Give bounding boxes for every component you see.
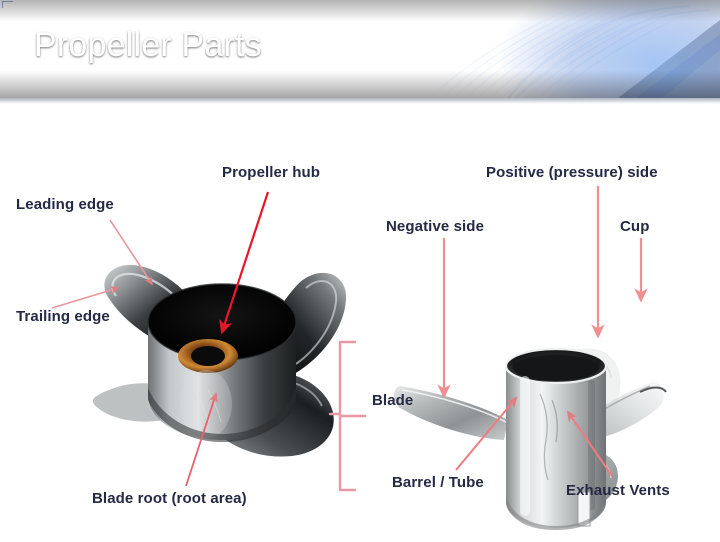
page-title: Propeller Parts [34, 26, 262, 65]
leader-leading-edge [110, 220, 152, 284]
leader-propeller-hub [222, 192, 268, 332]
propeller-diagram: Propeller hub Leading edge Trailing edge… [0, 104, 720, 542]
leader-barrel-tube [456, 398, 516, 470]
leader-trailing-edge [52, 288, 118, 308]
corner-marker-icon [2, 1, 14, 9]
label-propeller-hub: Propeller hub [222, 164, 320, 181]
label-positive-side: Positive (pressure) side [486, 164, 658, 181]
slide-canvas: Propeller Parts [0, 0, 720, 542]
label-barrel-tube: Barrel / Tube [392, 474, 484, 491]
label-exhaust-vents: Exhaust Vents [566, 482, 670, 499]
label-leading-edge: Leading edge [16, 196, 114, 213]
slide-header-banner: Propeller Parts [0, 0, 720, 98]
label-negative-side: Negative side [386, 218, 484, 235]
label-cup: Cup [620, 218, 649, 235]
leader-exhaust-vents [568, 412, 612, 476]
header-ray-decoration [390, 0, 720, 98]
leader-blade-root [186, 394, 216, 486]
label-blade: Blade [372, 392, 413, 409]
label-blade-root: Blade root (root area) [92, 490, 247, 507]
label-trailing-edge: Trailing edge [16, 308, 110, 325]
